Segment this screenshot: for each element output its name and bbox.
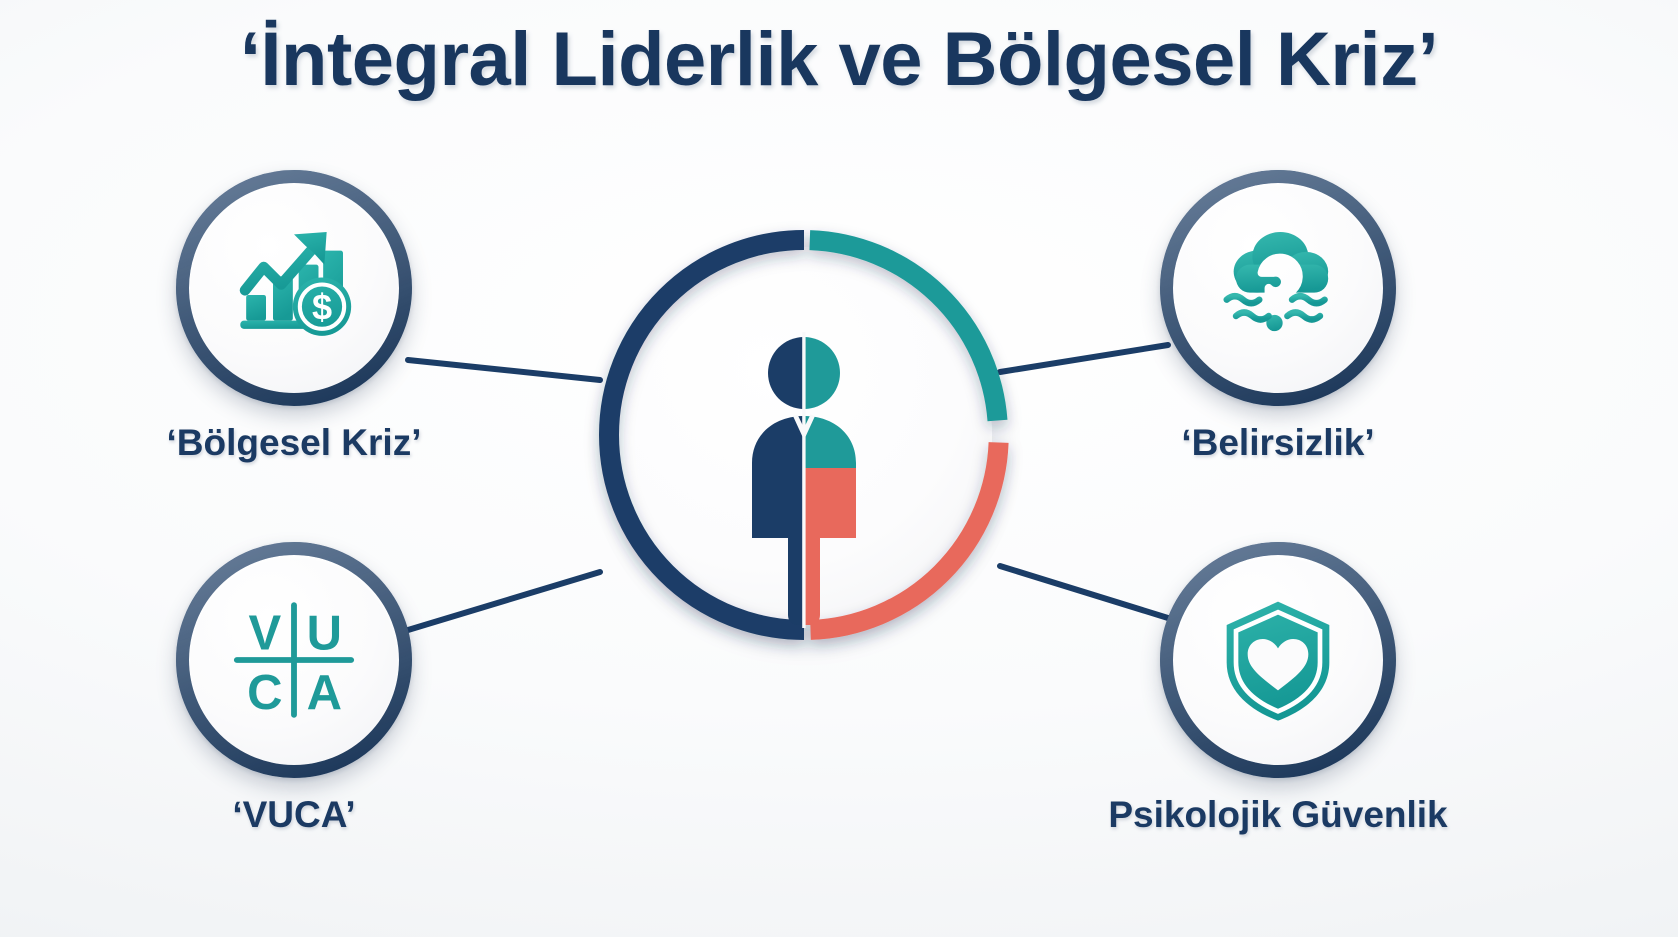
node-disc bbox=[1160, 170, 1396, 406]
node-bolgesel-kriz[interactable]: $ ‘Bölgesel Kriz’ bbox=[176, 170, 412, 464]
vuca-letter-v: V bbox=[248, 607, 281, 661]
connector-top-left bbox=[408, 360, 600, 380]
page-title: ‘İntegral Liderlik ve Bölgesel Kriz’ bbox=[0, 16, 1678, 103]
growth-chart-dollar-icon: $ bbox=[224, 218, 364, 358]
person-split-seam bbox=[802, 332, 805, 628]
cloud-question-fog-icon bbox=[1208, 218, 1348, 358]
vuca-quadrant-icon: V U C A bbox=[224, 590, 364, 730]
diagram-canvas: ‘İntegral Liderlik ve Bölgesel Kriz’ bbox=[0, 0, 1678, 937]
node-label: ‘Belirsizlik’ bbox=[928, 422, 1628, 464]
vuca-letter-u: U bbox=[307, 607, 342, 661]
vuca-letter-c: C bbox=[247, 666, 282, 720]
node-label: ‘VUCA’ bbox=[0, 794, 644, 836]
node-belirsizlik[interactable]: ‘Belirsizlik’ bbox=[1160, 170, 1396, 464]
node-vuca[interactable]: V U C A ‘VUCA’ bbox=[176, 542, 412, 836]
node-disc: V U C A bbox=[176, 542, 412, 778]
svg-text:$: $ bbox=[312, 287, 332, 328]
node-disc bbox=[1160, 542, 1396, 778]
node-label: ‘Bölgesel Kriz’ bbox=[0, 422, 644, 464]
shield-heart-icon bbox=[1208, 590, 1348, 730]
vuca-letter-a: A bbox=[307, 666, 342, 720]
connector-top-right bbox=[1000, 345, 1168, 372]
connector-bottom-right bbox=[1000, 566, 1168, 618]
node-label: Psikolojik Güvenlik bbox=[928, 794, 1628, 836]
node-psikolojik-guvenlik[interactable]: Psikolojik Güvenlik bbox=[1160, 542, 1396, 836]
connector-bottom-left bbox=[408, 572, 600, 630]
node-disc: $ bbox=[176, 170, 412, 406]
